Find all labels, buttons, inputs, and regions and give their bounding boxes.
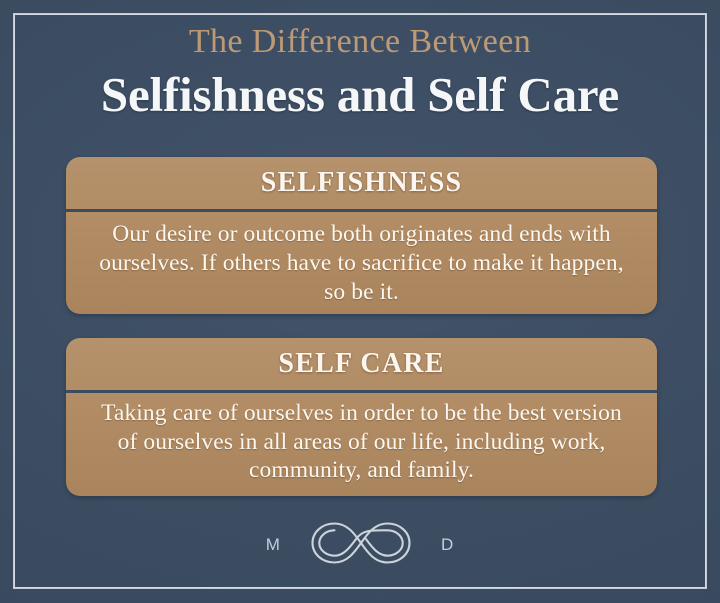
- card-self-care-title: SELF CARE: [278, 348, 444, 380]
- card-selfishness-header: SELFISHNESS: [66, 157, 657, 212]
- poster-header: The Difference Between Selfishness and S…: [0, 22, 720, 124]
- brand-logo: M D: [0, 512, 720, 574]
- card-selfishness-body: Our desire or outcome both originates an…: [66, 212, 657, 314]
- poster-canvas: The Difference Between Selfishness and S…: [0, 0, 720, 603]
- card-self-care-description: Taking care of ourselves in order to be …: [92, 399, 631, 485]
- eyebrow-text: The Difference Between: [0, 22, 720, 62]
- infinity-icon: [303, 514, 419, 572]
- card-self-care-body: Taking care of ourselves in order to be …: [66, 393, 657, 495]
- page-title: Selfishness and Self Care: [0, 66, 720, 124]
- card-selfishness: SELFISHNESS Our desire or outcome both o…: [66, 157, 657, 314]
- logo-letter-left: M: [266, 536, 281, 553]
- card-selfishness-description: Our desire or outcome both originates an…: [92, 220, 631, 307]
- card-self-care: SELF CARE Taking care of ourselves in or…: [66, 338, 657, 496]
- card-selfishness-title: SELFISHNESS: [261, 167, 463, 199]
- logo-letter-right: D: [441, 536, 454, 553]
- card-self-care-header: SELF CARE: [66, 338, 657, 393]
